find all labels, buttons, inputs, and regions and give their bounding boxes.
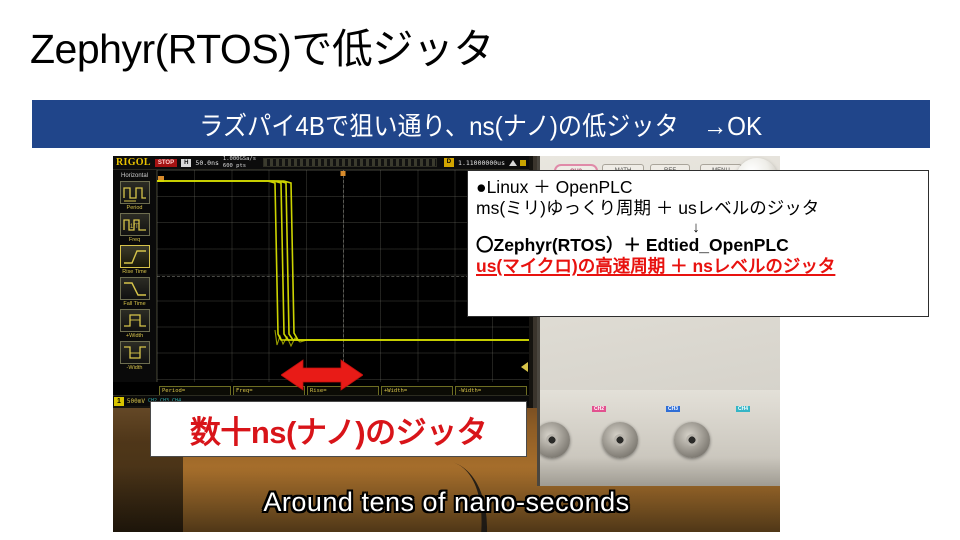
side-menu-item-fall-time[interactable]: Fall Time: [117, 277, 153, 307]
bnc-label-ch2: CH2: [592, 406, 606, 412]
side-menu-label: Period: [117, 205, 153, 211]
bnc-connector-ch1[interactable]: [537, 422, 570, 458]
rigol-logo: RIGOL: [116, 157, 151, 168]
side-menu-label: +Width: [117, 333, 153, 339]
side-menu-label: Fall Time: [117, 301, 153, 307]
comparison-callout-box: ●Linux ＋ OpenPLC ms(ミリ)ゆっくり周期 ＋ usレベルのジッ…: [467, 170, 929, 317]
side-menu-item-negative-width[interactable]: -Width: [117, 341, 153, 371]
frequency-icon: 1/T: [120, 213, 150, 236]
trigger-level-icon: [509, 160, 517, 166]
scope-status-bar: RIGOL STOP H 50.0ns 1.000GSa/s 600 pts D…: [113, 156, 529, 170]
fall-time-icon: [120, 277, 150, 300]
svg-text:1/T: 1/T: [130, 224, 139, 230]
negative-width-icon: [120, 341, 150, 364]
side-menu-label: -Width: [117, 365, 153, 371]
callout-down-arrow-icon: ↓: [476, 220, 916, 235]
bnc-connector-ch3[interactable]: [674, 422, 710, 458]
highlight-banner: ラズパイ4Bで狙い通り、ns(ナノ)の低ジッタ →OK: [32, 100, 930, 148]
bnc-connector-ch2[interactable]: [602, 422, 638, 458]
jitter-width-arrow-icon: [281, 358, 363, 392]
bnc-label-ch3: CH3: [666, 406, 680, 412]
channel-scale-value[interactable]: 500mV: [127, 398, 145, 405]
memory-depth-value: 600 pts: [223, 163, 246, 169]
timebase-value[interactable]: 50.0ns: [195, 159, 218, 167]
side-menu-label: Rise Time: [117, 269, 153, 275]
jitter-annotation-text: 数十ns(ナノ)のジッタ: [190, 407, 487, 452]
status-square-icon: [520, 160, 526, 166]
highlight-banner-text: ラズパイ4Bで狙い通り、ns(ナノ)の低ジッタ →OK: [200, 106, 763, 143]
rise-time-icon: [120, 245, 150, 268]
bnc-connector-row: CH2 CH3 CH4: [540, 390, 780, 486]
bnc-label-ch4: CH4: [736, 406, 750, 412]
side-menu-item-period[interactable]: Period: [117, 181, 153, 211]
positive-width-icon: [120, 309, 150, 332]
page-title: Zephyr(RTOS)で低ジッタ: [30, 28, 494, 71]
side-menu-label: Freq: [117, 237, 153, 243]
trigger-delay-value[interactable]: 1.11000000us: [458, 159, 505, 167]
callout-line-linux: ●Linux ＋ OpenPLC: [476, 177, 928, 198]
period-icon: [120, 181, 150, 204]
trigger-source-chip: D: [444, 158, 454, 166]
side-menu-header: Horizontal: [113, 172, 156, 181]
callout-line-zephyr: 〇Zephyr(RTOS）＋ Edtied_OpenPLC: [476, 235, 928, 256]
callout-line-linux-detail: ms(ミリ)ゆっくり周期 ＋ usレベルのジッタ: [476, 198, 928, 219]
slide-root: Zephyr(RTOS)で低ジッタ ラズパイ4Bで狙い通り、ns(ナノ)の低ジッ…: [0, 0, 960, 540]
horizontal-chip: H: [181, 159, 191, 167]
jitter-annotation-box: 数十ns(ナノ)のジッタ: [150, 401, 527, 457]
memory-bar[interactable]: [263, 158, 437, 167]
run-state-badge[interactable]: STOP: [155, 159, 177, 167]
side-menu-item-freq[interactable]: 1/T Freq: [117, 213, 153, 243]
channel-number-badge[interactable]: 1: [114, 397, 124, 406]
callout-line-zephyr-detail: us(マイクロ)の高速周期 ＋ nsレベルのジッタ: [476, 256, 928, 277]
status-icons-group: [509, 160, 526, 166]
photo-caption: Around tens of nano-seconds: [113, 487, 780, 518]
side-menu-item-rise-time[interactable]: Rise Time: [117, 245, 153, 275]
side-menu-item-positive-width[interactable]: +Width: [117, 309, 153, 339]
measure-side-menu: Horizontal Period 1/T Freq: [113, 170, 157, 382]
